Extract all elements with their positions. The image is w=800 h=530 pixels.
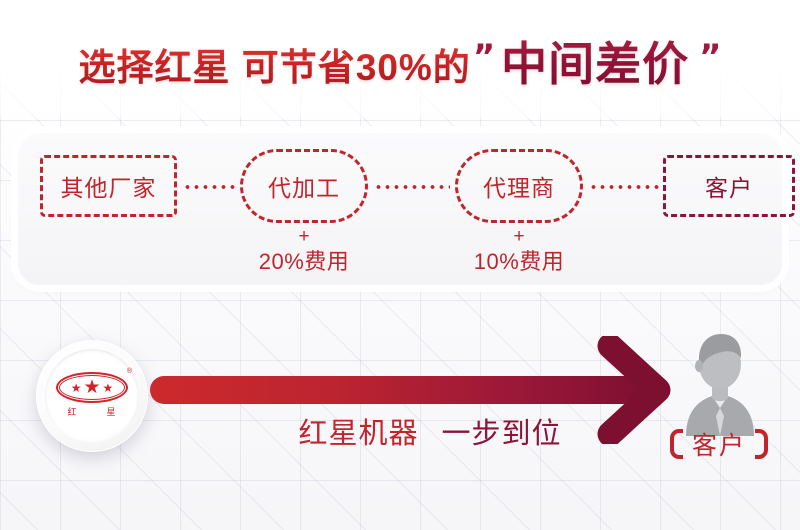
star-icon: ★ xyxy=(103,382,114,394)
arrow-shaft xyxy=(150,376,650,404)
arrow-caption-brand: 红星机器 xyxy=(299,418,419,450)
poster-canvas: 选择红星 可节省30%的 ” 中间差价 ” 其他厂家 代加工 代理商 客户 + xyxy=(0,0,800,530)
bracket-right-icon xyxy=(755,429,768,459)
star-icon: ★ xyxy=(71,382,82,394)
connector-dotted-2 xyxy=(374,185,450,189)
customer-label-text: 客户 xyxy=(692,426,746,462)
flow-node-label: 代理商 xyxy=(483,169,555,203)
flow-node-customer: 客户 xyxy=(663,155,795,217)
fee-amount: 20%费用 xyxy=(214,247,394,277)
registered-trademark-icon: ® xyxy=(127,368,132,375)
arrow-caption-slogan: 一步到位 xyxy=(441,418,561,450)
logo-stars-group: ★ ★ ★ xyxy=(53,374,131,401)
connector-dotted-3 xyxy=(589,185,659,189)
fee-markup-agent: + 10%费用 xyxy=(429,225,609,277)
fee-plus-sign: + xyxy=(429,227,609,247)
flow-node-label: 其他厂家 xyxy=(61,169,157,203)
page-title: 选择红星 可节省30%的 ” 中间差价 ” xyxy=(0,28,800,100)
flow-node-oem-processing: 代加工 xyxy=(240,149,368,223)
title-part-a: 选择红星 可节省30%的 xyxy=(78,37,470,91)
connector-dotted-1 xyxy=(183,185,235,189)
fee-markup-oem: + 20%费用 xyxy=(214,225,394,277)
flow-node-label: 客户 xyxy=(705,169,753,203)
supply-chain-card: 其他厂家 代加工 代理商 客户 + 20%费用 + 10%费用 xyxy=(18,133,782,285)
star-icon: ★ xyxy=(83,378,100,397)
flow-node-agent: 代理商 xyxy=(455,149,583,223)
customer-label-tag: 客户 xyxy=(646,424,792,464)
flow-node-other-manufacturer: 其他厂家 xyxy=(40,155,177,217)
flow-diagram: 其他厂家 代加工 代理商 客户 + 20%费用 + 10%费用 xyxy=(18,133,782,285)
fee-amount: 10%费用 xyxy=(429,247,609,277)
quote-close-mark: ” xyxy=(699,37,721,77)
quote-open-mark: ” xyxy=(473,37,495,77)
customer-person-icon xyxy=(668,324,772,436)
flow-node-label: 代加工 xyxy=(268,169,340,203)
fee-plus-sign: + xyxy=(214,227,394,247)
title-emphasis: 中间差价 xyxy=(501,28,689,94)
bracket-left-icon xyxy=(670,429,683,459)
